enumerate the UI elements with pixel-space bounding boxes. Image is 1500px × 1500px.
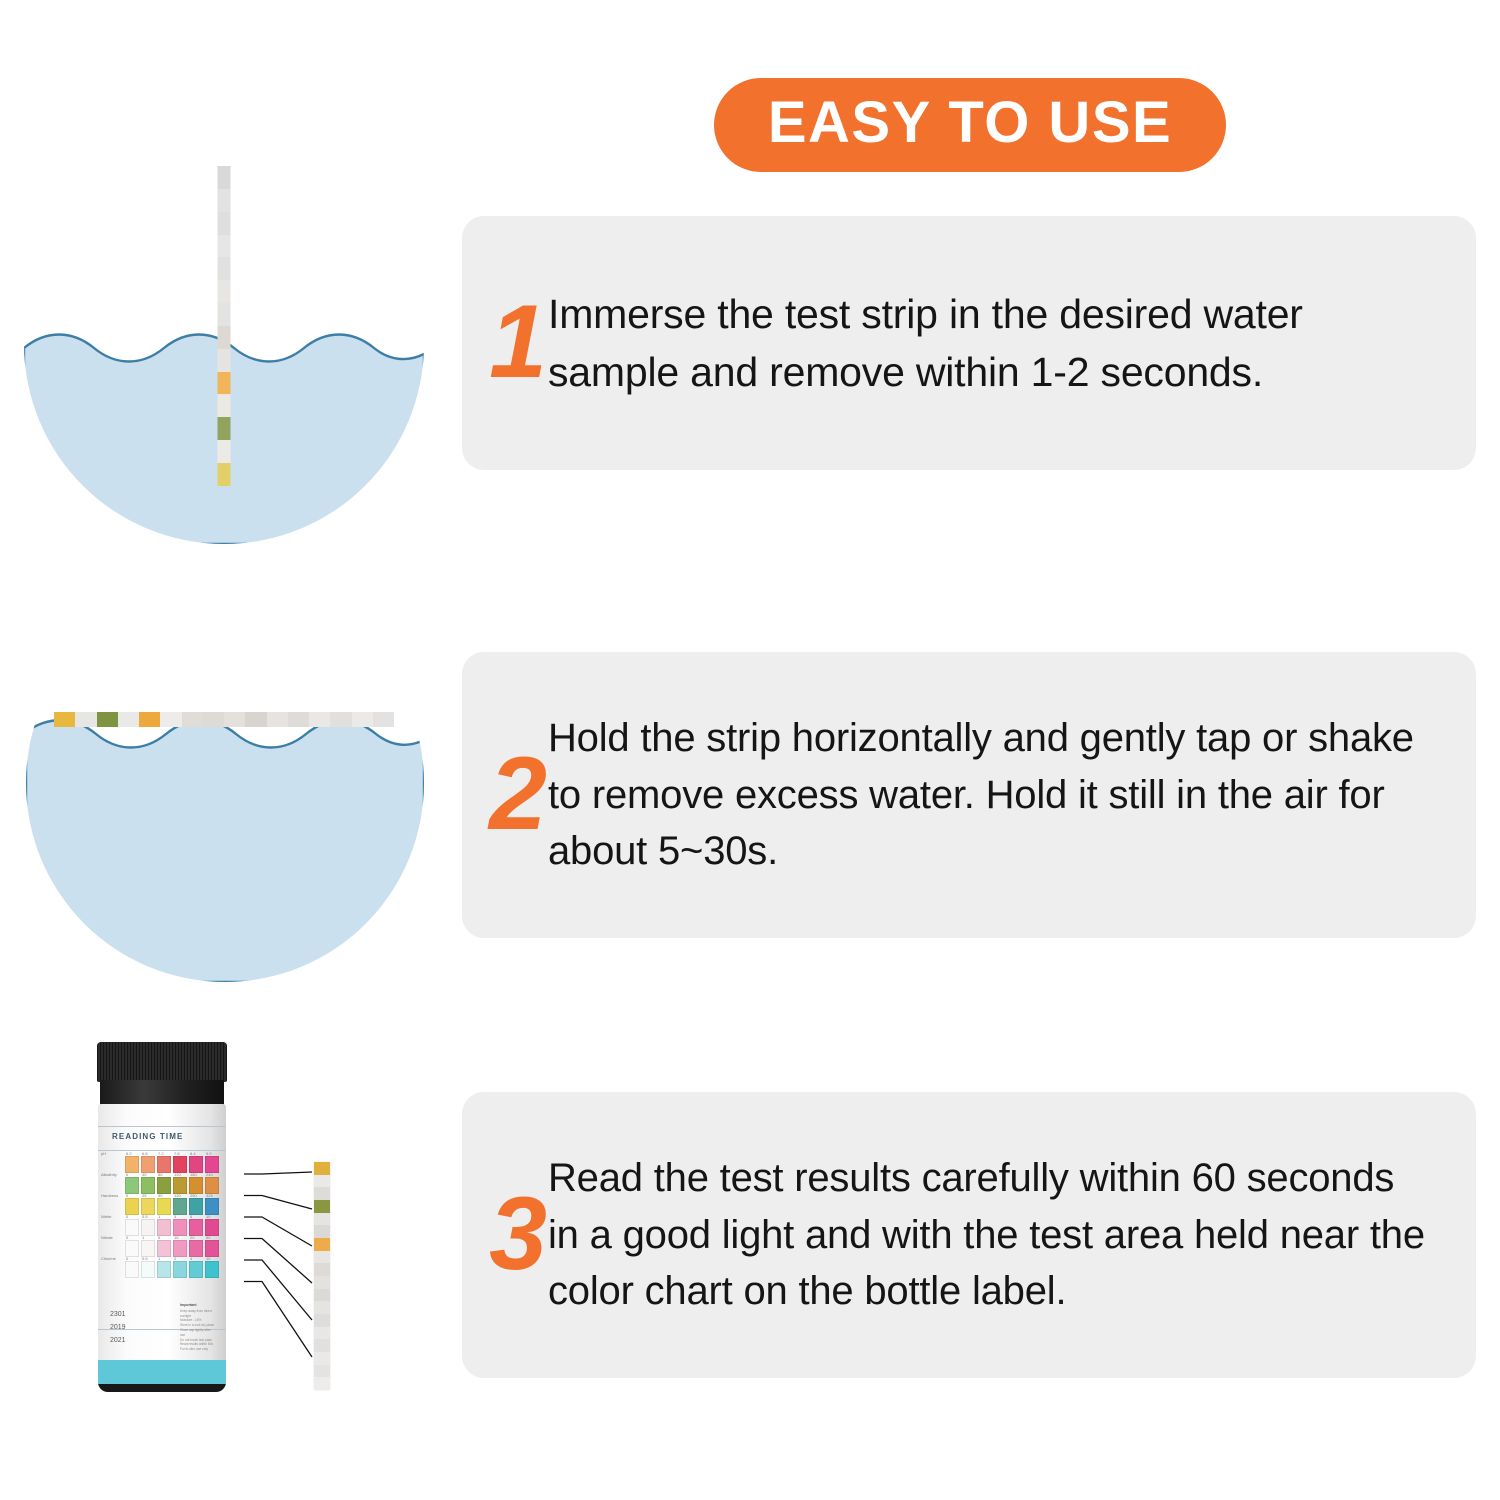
strip-pad xyxy=(314,1162,330,1175)
test-strip-horizontal xyxy=(54,712,394,727)
chart-value-label: 8.4 xyxy=(190,1151,196,1156)
water-body-2 xyxy=(26,712,424,982)
strip-pad xyxy=(314,1339,330,1352)
step-2-number: 2 xyxy=(462,748,548,842)
chart-row: 6.26.87.27.88.49.0 xyxy=(125,1156,221,1173)
chart-swatch xyxy=(189,1198,203,1215)
chart-swatch xyxy=(157,1156,171,1173)
step-1-illustration-circle xyxy=(24,144,424,544)
strip-pad xyxy=(218,189,231,212)
chart-swatch xyxy=(141,1156,155,1173)
strip-pad xyxy=(314,1377,330,1390)
strip-pad xyxy=(203,712,224,727)
strip-pad xyxy=(373,712,394,727)
chart-value-label: 5 xyxy=(158,1235,160,1240)
test-strip-bottle: READING TIME pH6.26.87.27.88.49.0Alkalin… xyxy=(92,1042,232,1392)
fineprint-line: For in-vitro use only xyxy=(180,1347,216,1352)
strip-pad xyxy=(314,1238,330,1251)
chart-value-label: 250 xyxy=(190,1193,197,1198)
strip-pad xyxy=(218,463,231,486)
strip-pad xyxy=(267,712,288,727)
fineprint-line: Keep away from direct sunlight xyxy=(180,1309,216,1319)
strip-pad xyxy=(314,1225,330,1238)
chart-row: 00.513510 xyxy=(125,1219,221,1236)
strip-pad xyxy=(218,440,231,463)
strip-pad xyxy=(218,235,231,258)
chart-row-label: Nitrate xyxy=(101,1235,113,1240)
chart-swatch xyxy=(125,1219,139,1236)
chart-row-label: Chlorine xyxy=(101,1256,116,1261)
strip-pad xyxy=(314,1251,330,1264)
test-strip-vertical xyxy=(218,166,231,486)
chart-swatch xyxy=(141,1261,155,1278)
chart-swatch xyxy=(173,1261,187,1278)
strip-pad xyxy=(218,303,231,326)
fineprint-line: Close cap tightly after use xyxy=(180,1328,216,1338)
chart-row: 04080120180240 xyxy=(125,1177,221,1194)
strip-pad xyxy=(160,712,181,727)
chart-swatch xyxy=(125,1261,139,1278)
chart-value-label: 3 xyxy=(174,1214,176,1219)
chart-value-label: 10 xyxy=(206,1214,210,1219)
label-teal-band xyxy=(98,1360,226,1386)
strip-pad xyxy=(309,712,330,727)
strip-pad xyxy=(288,712,309,727)
header-badge-container: EASY TO USE xyxy=(460,72,1480,178)
strip-pad xyxy=(218,257,231,280)
lot-code: 2301 xyxy=(110,1309,126,1322)
chart-value-label: 9.0 xyxy=(206,1151,212,1156)
chart-value-label: 1 xyxy=(158,1214,160,1219)
strip-pad xyxy=(314,1187,330,1200)
strip-pad xyxy=(314,1352,330,1365)
strip-pad xyxy=(218,394,231,417)
chart-swatch xyxy=(189,1177,203,1194)
chart-swatch xyxy=(125,1156,139,1173)
chart-swatch xyxy=(125,1177,139,1194)
chart-value-label: 10 xyxy=(174,1235,178,1240)
chart-swatch xyxy=(189,1156,203,1173)
chart-swatch xyxy=(141,1198,155,1215)
test-strip-beside-bottle xyxy=(314,1162,330,1390)
chart-value-label: 7.8 xyxy=(174,1151,180,1156)
chart-value-label: 20 xyxy=(190,1235,194,1240)
strip-pad xyxy=(314,1200,330,1213)
fineprint-title: Important xyxy=(180,1303,197,1307)
chart-swatch xyxy=(141,1219,155,1236)
chart-swatch xyxy=(205,1177,219,1194)
strip-pad xyxy=(224,712,245,727)
chart-value-label: 2 xyxy=(174,1256,176,1261)
chart-swatch xyxy=(173,1240,187,1257)
strip-pad xyxy=(330,712,351,727)
chart-swatch xyxy=(173,1198,187,1215)
strip-pad xyxy=(245,712,266,727)
bottle-label-body: READING TIME pH6.26.87.27.88.49.0Alkalin… xyxy=(98,1104,226,1392)
chart-swatch xyxy=(173,1177,187,1194)
strip-pad xyxy=(218,280,231,303)
strip-pad xyxy=(54,712,75,727)
chart-value-label: 0 xyxy=(126,1256,128,1261)
chart-value-label: 4 xyxy=(190,1256,192,1261)
strip-pad xyxy=(314,1213,330,1226)
chart-swatch xyxy=(205,1261,219,1278)
lot-code: 2019 xyxy=(110,1322,126,1335)
strip-pad xyxy=(352,712,373,727)
chart-value-label: 120 xyxy=(174,1172,181,1177)
strip-pad xyxy=(314,1263,330,1276)
step-3-card: 3 Read the test results carefully within… xyxy=(462,1092,1476,1378)
chart-swatch xyxy=(205,1219,219,1236)
chart-value-label: 80 xyxy=(158,1172,162,1177)
step-3-text: Read the test results carefully within 6… xyxy=(548,1150,1476,1320)
strip-pad xyxy=(218,166,231,189)
chart-value-label: 50 xyxy=(158,1193,162,1198)
strip-pad xyxy=(182,712,203,727)
chart-value-label: 0.5 xyxy=(142,1256,148,1261)
strip-pad xyxy=(218,417,231,440)
chart-swatch xyxy=(205,1156,219,1173)
chart-value-label: 0.5 xyxy=(142,1214,148,1219)
strip-pad xyxy=(314,1289,330,1302)
color-chart-grid: pH6.26.87.27.88.49.0Alkalinity0408012018… xyxy=(125,1156,221,1282)
chart-value-label: 7.2 xyxy=(158,1151,164,1156)
chart-value-label: 1 xyxy=(158,1256,160,1261)
chart-row: 00.512410 xyxy=(125,1261,221,1278)
chart-value-label: 6.8 xyxy=(142,1151,148,1156)
step-2-text: Hold the strip horizontally and gently t… xyxy=(548,710,1476,880)
chart-value-label: 240 xyxy=(206,1172,213,1177)
chart-swatch xyxy=(205,1198,219,1215)
chart-row-label: Nitrite xyxy=(101,1214,111,1219)
chart-swatch xyxy=(189,1219,203,1236)
chart-swatch xyxy=(157,1198,171,1215)
step-2-card: 2 Hold the strip horizontally and gently… xyxy=(462,652,1476,938)
label-divider-top xyxy=(98,1126,226,1127)
chart-swatch xyxy=(141,1240,155,1257)
chart-row: 015102050 xyxy=(125,1240,221,1257)
strip-pad xyxy=(97,712,118,727)
chart-value-label: 25 xyxy=(142,1193,146,1198)
chart-value-label: 120 xyxy=(174,1193,181,1198)
lot-codes: 230120192021 xyxy=(110,1309,126,1348)
label-heading: READING TIME xyxy=(98,1132,226,1141)
strip-pad xyxy=(75,712,96,727)
chart-row-label: Hardness xyxy=(101,1193,118,1198)
chart-swatch xyxy=(173,1219,187,1236)
strip-pad xyxy=(314,1365,330,1378)
chart-swatch xyxy=(173,1156,187,1173)
chart-value-label: 10 xyxy=(206,1256,210,1261)
strip-pad xyxy=(118,712,139,727)
chart-swatch xyxy=(157,1177,171,1194)
strip-pad xyxy=(314,1301,330,1314)
chart-row-label: Alkalinity xyxy=(101,1172,117,1177)
chart-value-label: 0 xyxy=(126,1193,128,1198)
chart-swatch xyxy=(157,1261,171,1278)
chart-value-label: 0 xyxy=(126,1172,128,1177)
chart-swatch xyxy=(189,1261,203,1278)
chart-swatch xyxy=(205,1240,219,1257)
strip-pad xyxy=(218,212,231,235)
chart-value-label: 40 xyxy=(142,1172,146,1177)
strip-pad xyxy=(314,1175,330,1188)
chart-value-label: 180 xyxy=(190,1172,197,1177)
easy-to-use-infographic: EASY TO USE 1 Immerse the test strip in … xyxy=(0,0,1500,1500)
chart-row-label: pH xyxy=(101,1151,106,1156)
bottle-cap xyxy=(97,1042,227,1082)
chart-swatch xyxy=(189,1240,203,1257)
chart-value-label: 6.2 xyxy=(126,1151,132,1156)
chart-value-label: 1 xyxy=(142,1235,144,1240)
chart-swatch xyxy=(157,1240,171,1257)
strip-pad xyxy=(314,1276,330,1289)
chart-value-label: 0 xyxy=(126,1235,128,1240)
step-1-text: Immerse the test strip in the desired wa… xyxy=(548,285,1476,401)
chart-value-label: 5 xyxy=(190,1214,192,1219)
badge-label: EASY TO USE xyxy=(768,94,1172,152)
fineprint-block: ImportantKeep away from direct sunlightM… xyxy=(180,1303,216,1352)
chart-row: 02550120250425 xyxy=(125,1198,221,1215)
chart-value-label: 0 xyxy=(126,1214,128,1219)
chart-swatch xyxy=(125,1198,139,1215)
lot-code: 2021 xyxy=(110,1335,126,1348)
strip-pad xyxy=(314,1327,330,1340)
chart-swatch xyxy=(157,1219,171,1236)
chart-swatch xyxy=(125,1240,139,1257)
strip-pad xyxy=(218,349,231,372)
strip-pad xyxy=(314,1314,330,1327)
strip-pad xyxy=(139,712,160,727)
strip-pad xyxy=(218,326,231,349)
step-1-number: 1 xyxy=(462,296,548,390)
step-1-card: 1 Immerse the test strip in the desired … xyxy=(462,216,1476,470)
chart-value-label: 425 xyxy=(206,1193,213,1198)
bottle-base xyxy=(98,1384,226,1392)
step-2-illustration-circle xyxy=(26,584,424,982)
step-3-number: 3 xyxy=(462,1188,548,1282)
chart-swatch xyxy=(141,1177,155,1194)
strip-pad xyxy=(218,372,231,395)
easy-to-use-badge: EASY TO USE xyxy=(714,78,1226,172)
chart-value-label: 50 xyxy=(206,1235,210,1240)
